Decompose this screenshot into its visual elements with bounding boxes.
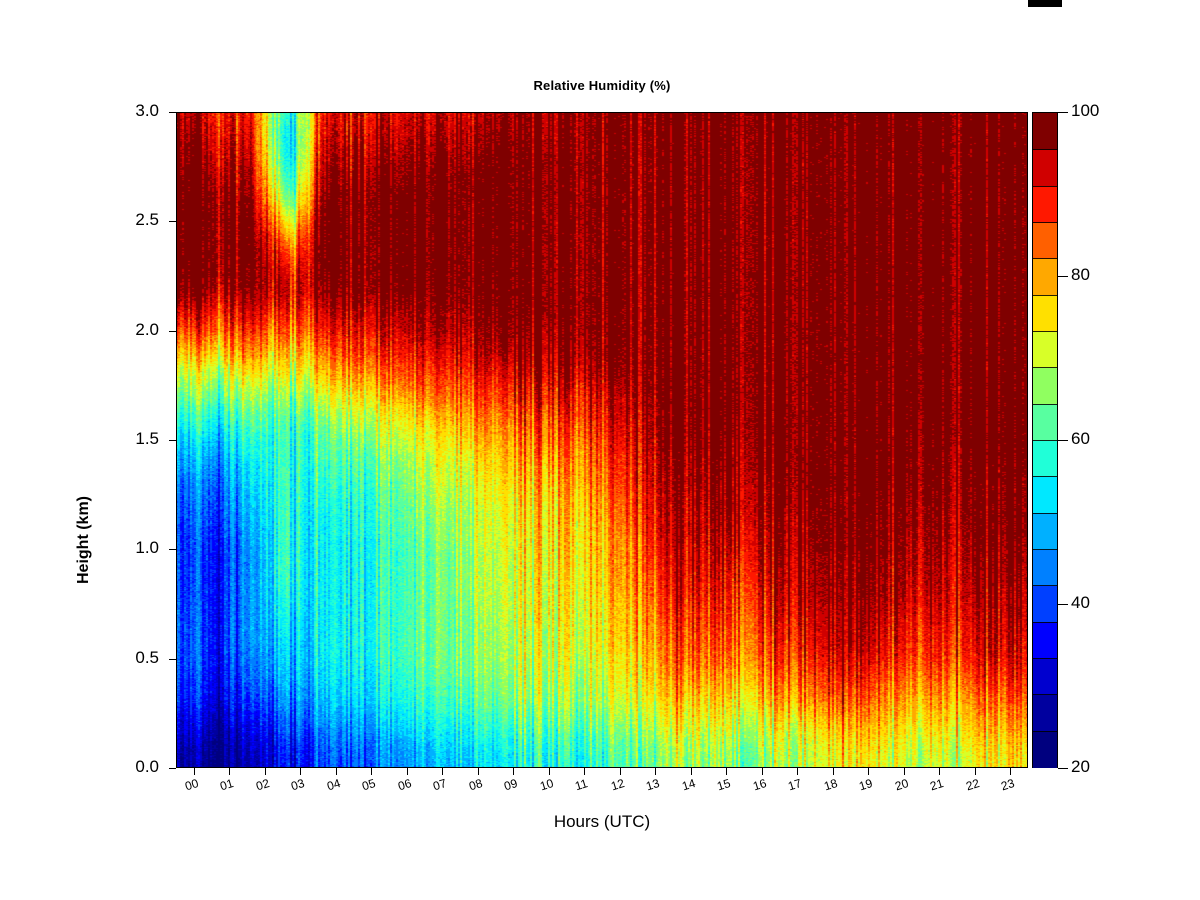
colorbar	[1032, 112, 1058, 768]
y-tick-mark	[169, 112, 176, 113]
y-tick-label: 2.5	[99, 210, 159, 230]
x-tick-label: 02	[254, 776, 271, 793]
colorbar-band	[1033, 622, 1057, 659]
y-tick-label: 0.0	[99, 757, 159, 777]
x-tick-mark	[442, 768, 443, 775]
colorbar-tick-label: 40	[1071, 593, 1090, 613]
colorbar-tick-label: 100	[1071, 101, 1099, 121]
colorbar-band-separator	[1033, 476, 1057, 477]
x-tick-mark	[371, 768, 372, 775]
colorbar-band-separator	[1033, 149, 1057, 150]
x-tick-label: 22	[964, 776, 981, 793]
colorbar-band	[1033, 549, 1057, 586]
x-tick-mark	[762, 768, 763, 775]
x-tick-label: 16	[751, 776, 768, 793]
x-tick-label: 09	[503, 776, 520, 793]
heatmap-plot-area	[176, 112, 1028, 768]
y-tick-mark	[169, 659, 176, 660]
colorbar-band	[1033, 585, 1057, 622]
y-tick-label: 3.0	[99, 101, 159, 121]
colorbar-band	[1033, 113, 1057, 150]
x-tick-mark	[939, 768, 940, 775]
x-tick-mark	[655, 768, 656, 775]
x-tick-label: 11	[574, 776, 590, 793]
x-tick-label: 20	[893, 776, 910, 793]
colorbar-tick-label: 80	[1071, 265, 1090, 285]
colorbar-tick-mark	[1058, 440, 1068, 441]
x-tick-mark	[868, 768, 869, 775]
x-tick-label: 15	[716, 776, 733, 793]
x-tick-mark	[549, 768, 550, 775]
colorbar-band	[1033, 658, 1057, 695]
colorbar-tick-mark	[1058, 604, 1068, 605]
x-tick-mark	[691, 768, 692, 775]
x-tick-mark	[584, 768, 585, 775]
x-tick-mark	[726, 768, 727, 775]
colorbar-band-separator	[1033, 331, 1057, 332]
x-tick-mark	[620, 768, 621, 775]
x-tick-label: 12	[609, 776, 626, 793]
x-tick-mark	[229, 768, 230, 775]
colorbar-band-separator	[1033, 186, 1057, 187]
colorbar-band	[1033, 513, 1057, 550]
colorbar-band	[1033, 367, 1057, 404]
x-tick-mark	[478, 768, 479, 775]
x-tick-label: 10	[538, 776, 555, 793]
colorbar-band	[1033, 331, 1057, 368]
x-tick-mark	[1010, 768, 1011, 775]
colorbar-tick-mark	[1058, 276, 1068, 277]
colorbar-band	[1033, 258, 1057, 295]
x-tick-mark	[300, 768, 301, 775]
y-tick-mark	[169, 549, 176, 550]
x-tick-label: 08	[467, 776, 484, 793]
y-tick-mark	[169, 221, 176, 222]
x-tick-label: 07	[432, 776, 449, 793]
colorbar-band-separator	[1033, 549, 1057, 550]
x-tick-mark	[833, 768, 834, 775]
y-axis-label: Height (km)	[75, 496, 93, 584]
y-tick-mark	[169, 440, 176, 441]
x-tick-label: 05	[361, 776, 378, 793]
colorbar-tick-mark	[1058, 112, 1068, 113]
colorbar-band	[1033, 222, 1057, 259]
colorbar-band-separator	[1033, 404, 1057, 405]
colorbar-band	[1033, 476, 1057, 513]
colorbar-band	[1033, 731, 1057, 768]
colorbar-band-separator	[1033, 295, 1057, 296]
colorbar-band	[1033, 694, 1057, 731]
colorbar-band-separator	[1033, 694, 1057, 695]
x-tick-mark	[194, 768, 195, 775]
colorbar-band	[1033, 404, 1057, 441]
x-tick-mark	[407, 768, 408, 775]
x-tick-label: 01	[219, 776, 236, 793]
heatmap-image	[176, 112, 1028, 768]
colorbar-band	[1033, 295, 1057, 332]
x-tick-label: 00	[183, 776, 200, 793]
colorbar-band-separator	[1033, 440, 1057, 441]
x-tick-label: 23	[1000, 776, 1017, 793]
x-tick-mark	[336, 768, 337, 775]
colorbar-band-separator	[1033, 258, 1057, 259]
colorbar-band	[1033, 186, 1057, 223]
x-tick-label: 18	[822, 776, 839, 793]
x-tick-mark	[975, 768, 976, 775]
colorbar-band-separator	[1033, 658, 1057, 659]
y-tick-label: 1.0	[99, 538, 159, 558]
figure-canvas: Relative Humidity (%) 0.00.51.01.52.02.5…	[0, 0, 1200, 900]
y-axis-label-wrap: Height (km)	[76, 540, 96, 560]
x-tick-mark	[265, 768, 266, 775]
y-tick-label: 1.5	[99, 429, 159, 449]
x-tick-mark	[904, 768, 905, 775]
colorbar-tick-label: 20	[1071, 757, 1090, 777]
x-axis-label: Hours (UTC)	[176, 812, 1028, 832]
colorbar-band-separator	[1033, 367, 1057, 368]
x-tick-label: 03	[290, 776, 307, 793]
x-tick-label: 06	[396, 776, 413, 793]
colorbar-band	[1033, 149, 1057, 186]
colorbar-tick-mark	[1058, 768, 1068, 769]
x-tick-label: 13	[645, 776, 662, 793]
colorbar-band	[1033, 440, 1057, 477]
x-tick-mark	[797, 768, 798, 775]
x-tick-label: 19	[858, 776, 875, 793]
y-tick-mark	[169, 768, 176, 769]
colorbar-tick-label: 60	[1071, 429, 1090, 449]
x-tick-mark	[513, 768, 514, 775]
colorbar-band-separator	[1033, 622, 1057, 623]
colorbar-band-separator	[1033, 731, 1057, 732]
colorbar-band-separator	[1033, 222, 1057, 223]
y-tick-label: 2.0	[99, 320, 159, 340]
x-tick-label: 14	[680, 776, 697, 793]
x-tick-label: 17	[787, 776, 804, 793]
x-tick-label: 21	[929, 776, 946, 793]
colorbar-band-separator	[1033, 585, 1057, 586]
y-tick-mark	[169, 331, 176, 332]
y-tick-label: 0.5	[99, 648, 159, 668]
x-tick-label: 04	[325, 776, 342, 793]
colorbar-band-separator	[1033, 513, 1057, 514]
page-title: Relative Humidity (%)	[176, 78, 1028, 93]
